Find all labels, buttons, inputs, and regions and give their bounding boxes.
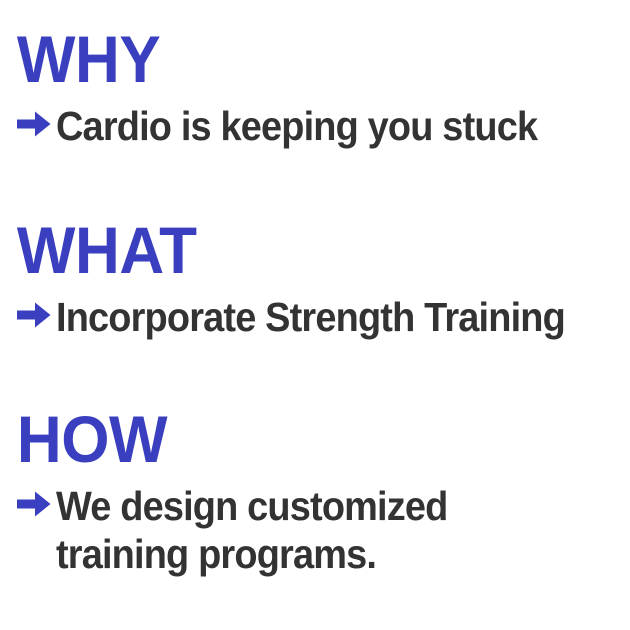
right-arrow-icon [17, 293, 55, 328]
section-body-text-how: We design customized training programs. [56, 482, 587, 578]
why-what-how-slide: WHY Cardio is keeping you stuck WHAT Inc… [0, 0, 630, 630]
right-arrow-icon [17, 482, 55, 517]
section-body-what: Incorporate Strength Training [0, 293, 630, 341]
section-heading-how: HOW [0, 406, 592, 472]
section-how: HOW We design customized training progra… [0, 406, 630, 578]
right-arrow-icon [17, 102, 55, 137]
section-body-text-why: Cardio is keeping you stuck [56, 102, 587, 150]
section-body-text-what: Incorporate Strength Training [56, 293, 587, 341]
section-heading-what: WHAT [0, 217, 592, 283]
section-body-why: Cardio is keeping you stuck [0, 102, 630, 150]
section-what: WHAT Incorporate Strength Training [0, 217, 630, 341]
section-body-how: We design customized training programs. [0, 482, 630, 578]
section-why: WHY Cardio is keeping you stuck [0, 26, 630, 150]
section-heading-why: WHY [0, 26, 592, 92]
